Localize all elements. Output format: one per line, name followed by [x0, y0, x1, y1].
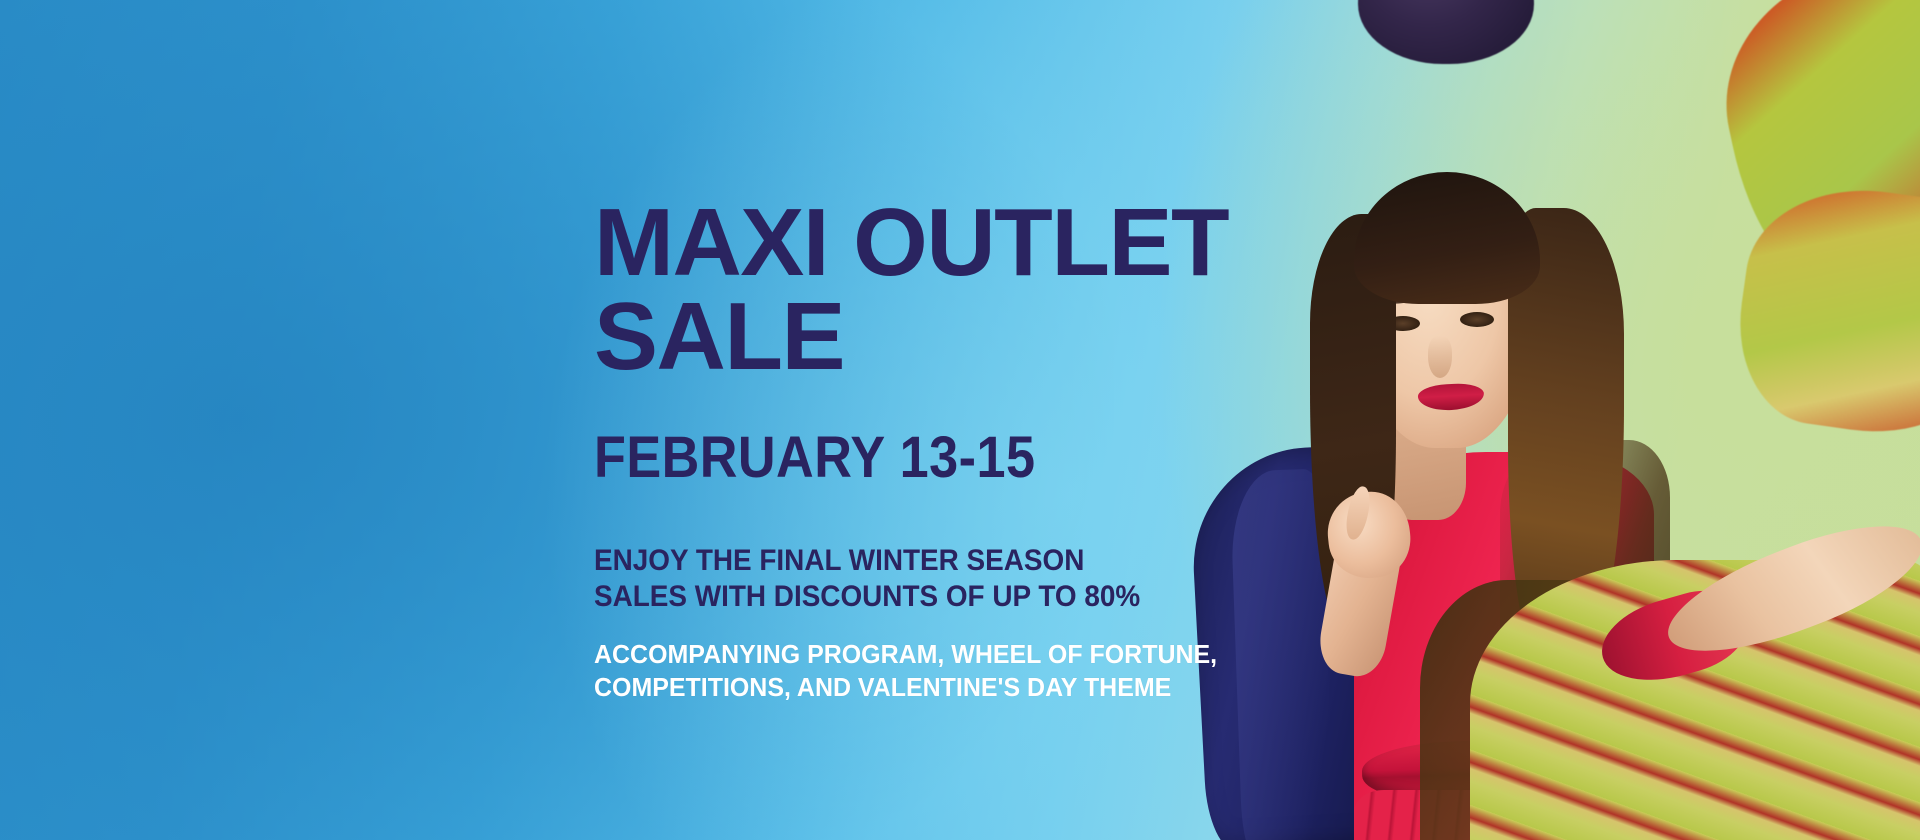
sub-text: ACCOMPANYING PROGRAM, WHEEL OF FORTUNE, …	[594, 638, 1217, 703]
model-eye-right	[1460, 312, 1494, 327]
lead-text: ENJOY THE FINAL WINTER SEASON SALES WITH…	[594, 543, 1140, 615]
model-nose	[1428, 336, 1452, 378]
copy-block: MAXI OUTLET SALE FEBRUARY 13-15 ENJOY TH…	[594, 0, 1354, 840]
date-range: FEBRUARY 13-15	[594, 424, 1035, 491]
headline: MAXI OUTLET SALE	[594, 196, 1228, 384]
model-hair-top	[1354, 172, 1540, 304]
promo-banner: MAXI OUTLET SALE FEBRUARY 13-15 ENJOY TH…	[0, 0, 1920, 840]
